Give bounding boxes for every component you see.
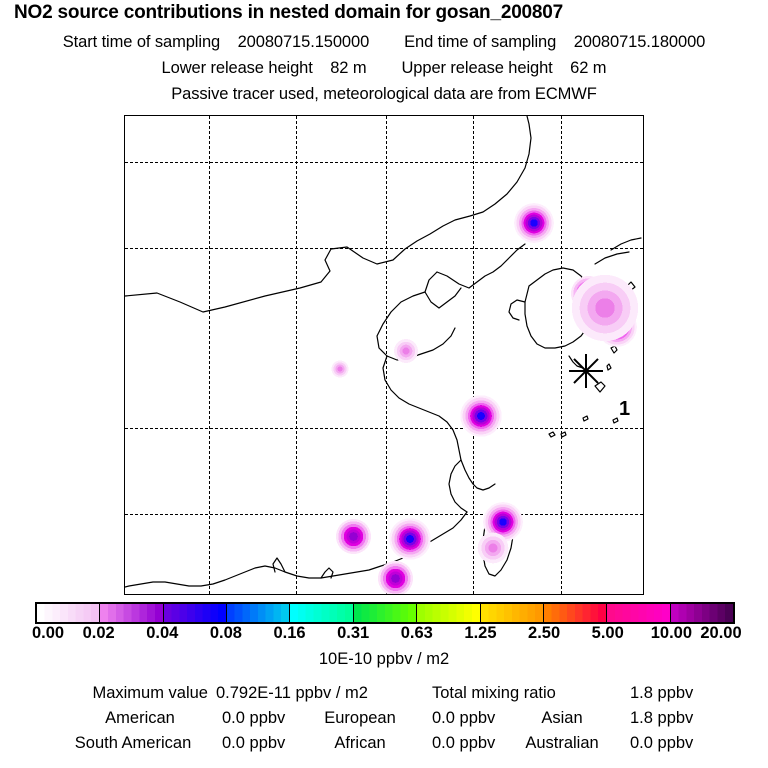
colorbar-tick-label: 2.50 (528, 624, 560, 643)
colorbar-segment (354, 604, 417, 622)
asian-value: 1.8 ppbv (630, 709, 693, 728)
gridline-horizontal (125, 248, 643, 249)
colorbar-tick-label: 0.16 (273, 624, 305, 643)
release-site-marker-icon (569, 354, 603, 388)
colorbar-segment (37, 604, 100, 622)
end-time-label: End time of sampling (404, 33, 556, 51)
figure-root: NO2 source contributions in nested domai… (0, 0, 768, 768)
colorbar-tick-label: 1.25 (464, 624, 496, 643)
colorbar-tick-label: 0.63 (401, 624, 433, 643)
colorbar-tick-label: 0.04 (146, 624, 178, 643)
maximum-value: 0.792E-11 ppbv / m2 (216, 684, 368, 703)
sampling-time-line: Start time of sampling 20080715.150000 E… (0, 33, 768, 52)
colorbar-tick-label: 0.08 (210, 624, 242, 643)
colorbar-segment (100, 604, 163, 622)
australian-label: Australian (525, 734, 598, 753)
south-american-label: South American (75, 734, 191, 753)
african-label: African (334, 734, 385, 753)
gridline-horizontal (125, 428, 643, 429)
total-mixing-ratio-label: Total mixing ratio (432, 684, 556, 703)
gridline-horizontal (125, 162, 643, 163)
colorbar-segment (607, 604, 670, 622)
map-plot-area: 1 (124, 115, 644, 595)
american-label: American (105, 709, 175, 728)
colorbar-segment (417, 604, 480, 622)
figure-title: NO2 source contributions in nested domai… (14, 2, 754, 24)
colorbar-segment (227, 604, 290, 622)
release-site-number-label: 1 (619, 398, 630, 421)
colorbar-tick-label: 20.00 (700, 624, 741, 643)
colorbar-tick-label: 0.00 (32, 624, 64, 643)
south-american-value: 0.0 ppbv (222, 734, 285, 753)
stats-row-2: South American 0.0 ppbv African 0.0 ppbv… (0, 734, 768, 759)
gridline-horizontal (125, 514, 643, 515)
coastline-layer (125, 116, 644, 595)
stats-row-1: American 0.0 ppbv European 0.0 ppbv Asia… (0, 709, 768, 734)
gridline-vertical (209, 116, 210, 594)
release-height-line: Lower release height 82 m Upper release … (0, 59, 768, 78)
upper-release-value: 62 m (570, 59, 606, 77)
colorbar-unit-label: 10E-10 ppbv / m2 (0, 650, 768, 669)
colorbar-segment (671, 604, 733, 622)
colorbar-segment (164, 604, 227, 622)
tracer-note: Passive tracer used, meteorological data… (0, 85, 768, 104)
colorbar-tick-labels: 0.000.020.040.080.160.310.631.252.505.00… (0, 624, 768, 644)
maximum-value-label: Maximum value (92, 684, 208, 703)
gridline-vertical (561, 116, 562, 594)
total-mixing-ratio-value: 1.8 ppbv (630, 684, 693, 703)
african-value: 0.0 ppbv (432, 734, 495, 753)
colorbar-tick-label: 0.02 (83, 624, 115, 643)
gridline-vertical (386, 116, 387, 594)
lower-release-label: Lower release height (162, 59, 313, 77)
colorbar (35, 602, 735, 624)
upper-release-label: Upper release height (401, 59, 552, 77)
gridline-vertical (296, 116, 297, 594)
european-label: European (324, 709, 396, 728)
map-canvas: 1 (125, 116, 643, 594)
european-value: 0.0 ppbv (432, 709, 495, 728)
colorbar-tick-label: 5.00 (592, 624, 624, 643)
start-time-value: 20080715.150000 (238, 33, 370, 51)
australian-value: 0.0 ppbv (630, 734, 693, 753)
statistics-block: Maximum value 0.792E-11 ppbv / m2 Total … (0, 684, 768, 759)
stats-row-summary: Maximum value 0.792E-11 ppbv / m2 Total … (0, 684, 768, 709)
end-time-value: 20080715.180000 (574, 33, 706, 51)
american-value: 0.0 ppbv (222, 709, 285, 728)
colorbar-segment (481, 604, 544, 622)
asian-label: Asian (541, 709, 582, 728)
gridline-vertical (473, 116, 474, 594)
start-time-label: Start time of sampling (63, 33, 220, 51)
colorbar-tick-label: 0.31 (337, 624, 369, 643)
colorbar-tick-label: 10.00 (651, 624, 692, 643)
colorbar-segment (290, 604, 353, 622)
lower-release-value: 82 m (330, 59, 366, 77)
colorbar-segment (544, 604, 607, 622)
